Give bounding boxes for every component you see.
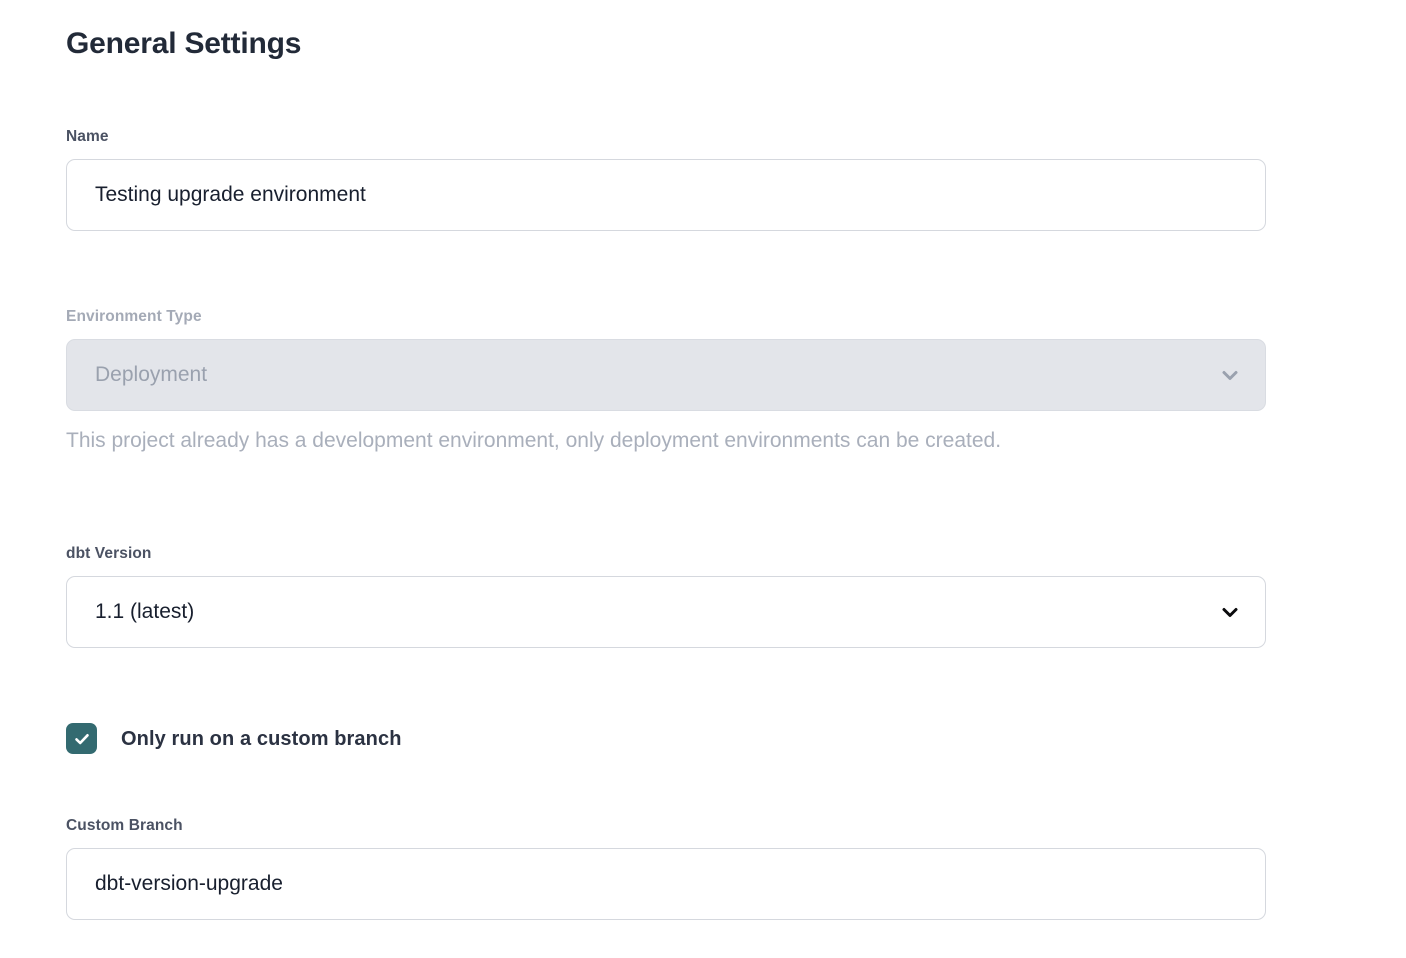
field-group-environment-type: Environment Type Deployment This project… bbox=[66, 308, 1266, 454]
environment-type-helper-text: This project already has a development e… bbox=[66, 427, 1266, 454]
name-label: Name bbox=[66, 128, 1266, 147]
field-group-name: Name bbox=[66, 128, 1266, 231]
dbt-version-label: dbt Version bbox=[66, 545, 1266, 564]
custom-branch-label: Custom Branch bbox=[66, 817, 1266, 836]
page-title: General Settings bbox=[66, 26, 301, 62]
environment-type-label: Environment Type bbox=[66, 308, 1266, 327]
environment-type-select: Deployment bbox=[66, 339, 1266, 411]
field-group-custom-branch: Custom Branch bbox=[66, 817, 1266, 920]
custom-branch-checkbox[interactable] bbox=[66, 723, 97, 754]
custom-branch-input[interactable] bbox=[66, 848, 1266, 920]
dbt-version-select-wrap[interactable]: 1.1 (latest) bbox=[66, 576, 1266, 648]
environment-type-select-wrap: Deployment bbox=[66, 339, 1266, 411]
dbt-version-select[interactable]: 1.1 (latest) bbox=[66, 576, 1266, 648]
custom-branch-checkbox-label[interactable]: Only run on a custom branch bbox=[121, 727, 402, 751]
general-settings-page: General Settings Name Environment Type D… bbox=[0, 0, 1406, 958]
check-icon bbox=[72, 729, 92, 749]
name-input[interactable] bbox=[66, 159, 1266, 231]
custom-branch-toggle-row[interactable]: Only run on a custom branch bbox=[66, 723, 402, 754]
field-group-dbt-version: dbt Version 1.1 (latest) bbox=[66, 545, 1266, 648]
